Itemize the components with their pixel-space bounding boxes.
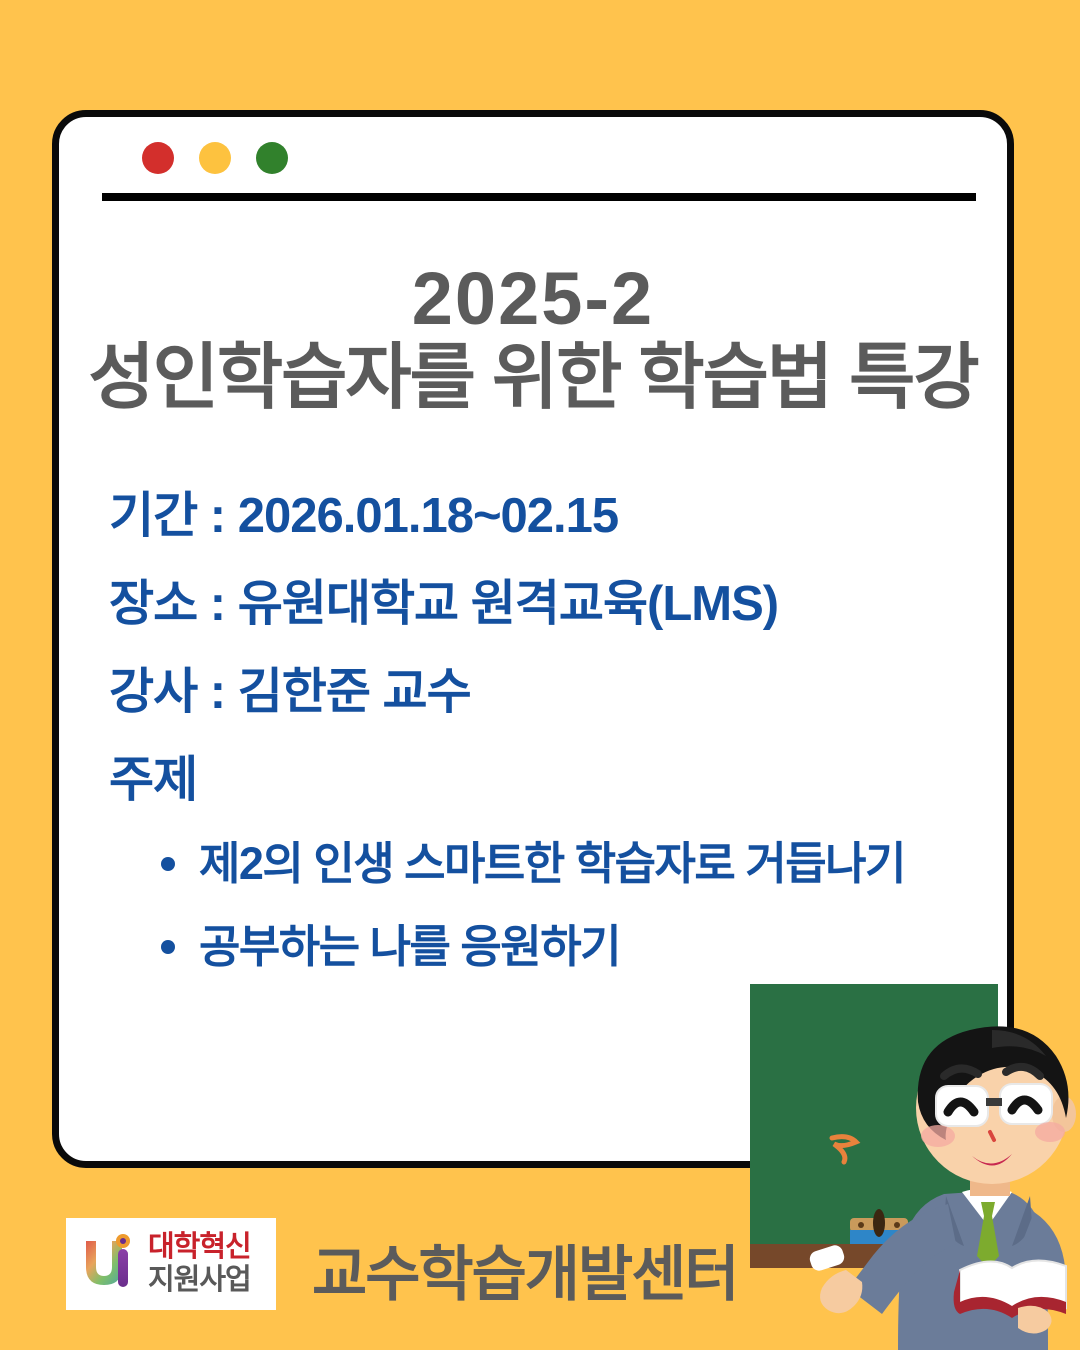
detail-topic-heading: 주제 (109, 756, 999, 805)
university-innovation-logo: 대학혁신 지원사업 (66, 1218, 276, 1310)
logo-line-1: 대학혁신 (148, 1233, 251, 1262)
details-block: 기간 : 2026.01.18~02.15 장소 : 유원대학교 원격교육(LM… (109, 492, 999, 1007)
header-divider (102, 193, 976, 201)
close-dot[interactable] (142, 142, 174, 174)
window-controls (142, 142, 288, 174)
u-gradient-logo-icon (78, 1233, 144, 1295)
detail-period: 기간 : 2026.01.18~02.15 (109, 492, 999, 541)
teacher-at-chalkboard-illustration (748, 980, 1080, 1350)
title-year: 2025-2 (59, 262, 1007, 336)
topic-list: 제2의 인생 스마트한 학습자로 거듭나기 공부하는 나를 응원하기 (109, 841, 999, 969)
list-item: 공부하는 나를 응원하기 (157, 924, 999, 969)
logo-wordmark: 대학혁신 지원사업 (148, 1233, 251, 1295)
center-name: 교수학습개발센터 (312, 1226, 738, 1313)
minimize-dot[interactable] (199, 142, 231, 174)
list-item: 제2의 인생 스마트한 학습자로 거듭나기 (157, 841, 999, 886)
detail-instructor: 강사 : 김한준 교수 (109, 668, 999, 717)
logo-line-2: 지원사업 (148, 1266, 251, 1295)
maximize-dot[interactable] (256, 142, 288, 174)
detail-place: 장소 : 유원대학교 원격교육(LMS) (109, 580, 999, 629)
page-title: 2025-2 성인학습자를 위한 학습법 특강 (59, 262, 1007, 421)
title-main: 성인학습자를 위한 학습법 특강 (59, 336, 1007, 421)
